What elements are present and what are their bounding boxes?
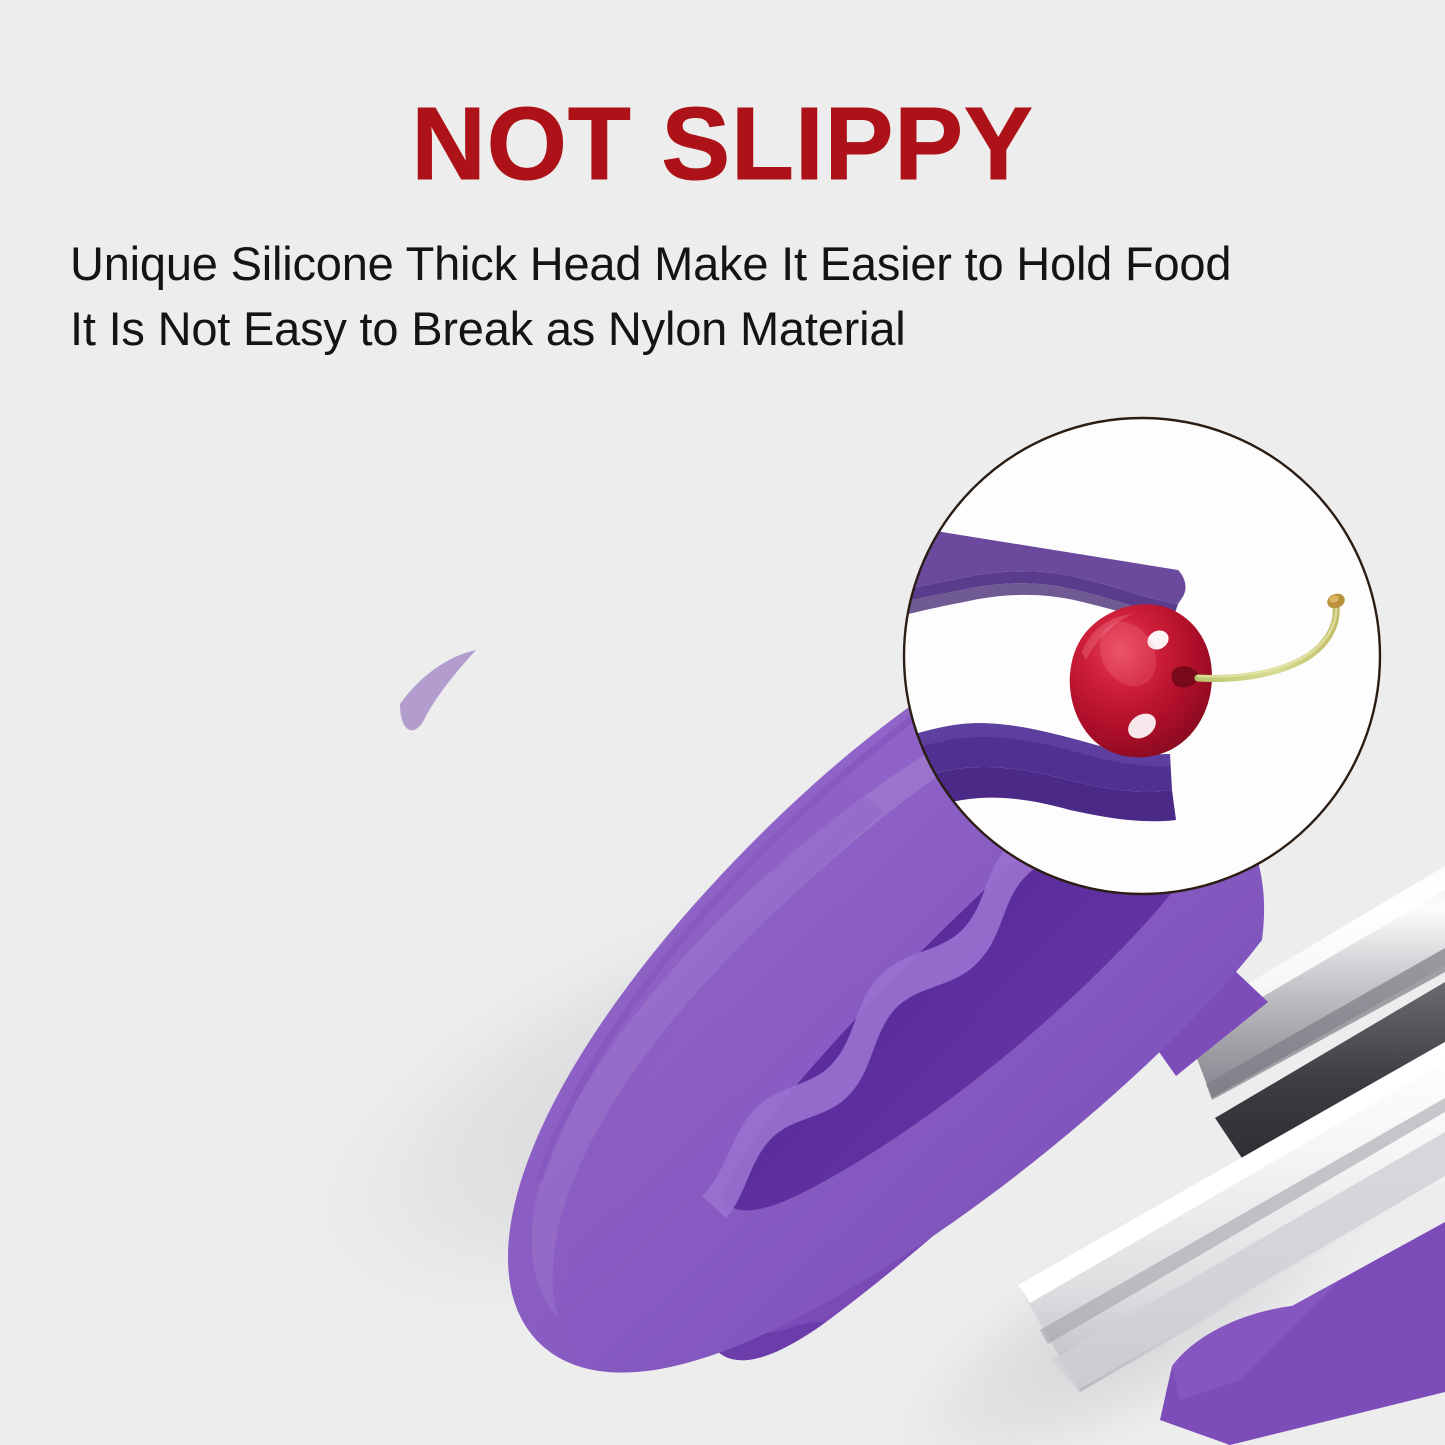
cherry [1070, 604, 1212, 757]
tip-notch [400, 650, 476, 730]
subtitle-line-1: Unique Silicone Thick Head Make It Easie… [70, 240, 1231, 287]
jaw-collar-lower [1128, 952, 1268, 1076]
tong-head-tip [400, 632, 884, 1356]
product-illustration [0, 0, 1445, 1445]
steel-arm-upper [1183, 866, 1445, 1100]
inset-tong-tip-upper [878, 522, 1185, 604]
tong-jaw-upper [372, 604, 1264, 1372]
handle-grip-pad [1160, 1222, 1445, 1445]
inset-tong-tip-lower [872, 723, 1172, 792]
page-title: NOT SLIPPY [0, 92, 1445, 195]
product-shadow [189, 728, 1210, 1445]
steel-arm-gap [1215, 982, 1445, 1182]
detail-callout-contents [780, 522, 1347, 944]
steel-arm-lower [1018, 1042, 1445, 1392]
detail-callout-circle [780, 418, 1380, 944]
product-marketing-image: NOT SLIPPY Unique Silicone Thick Head Ma… [0, 0, 1445, 1445]
tong-jaw-lower [712, 964, 1168, 1360]
subtitle-line-2: It Is Not Easy to Break as Nylon Materia… [70, 305, 906, 352]
product-shadow-secondary [813, 1092, 1445, 1445]
callout-outline [904, 418, 1380, 894]
cherry-stem [1198, 606, 1336, 678]
cherry-stem-tip [1325, 591, 1347, 610]
